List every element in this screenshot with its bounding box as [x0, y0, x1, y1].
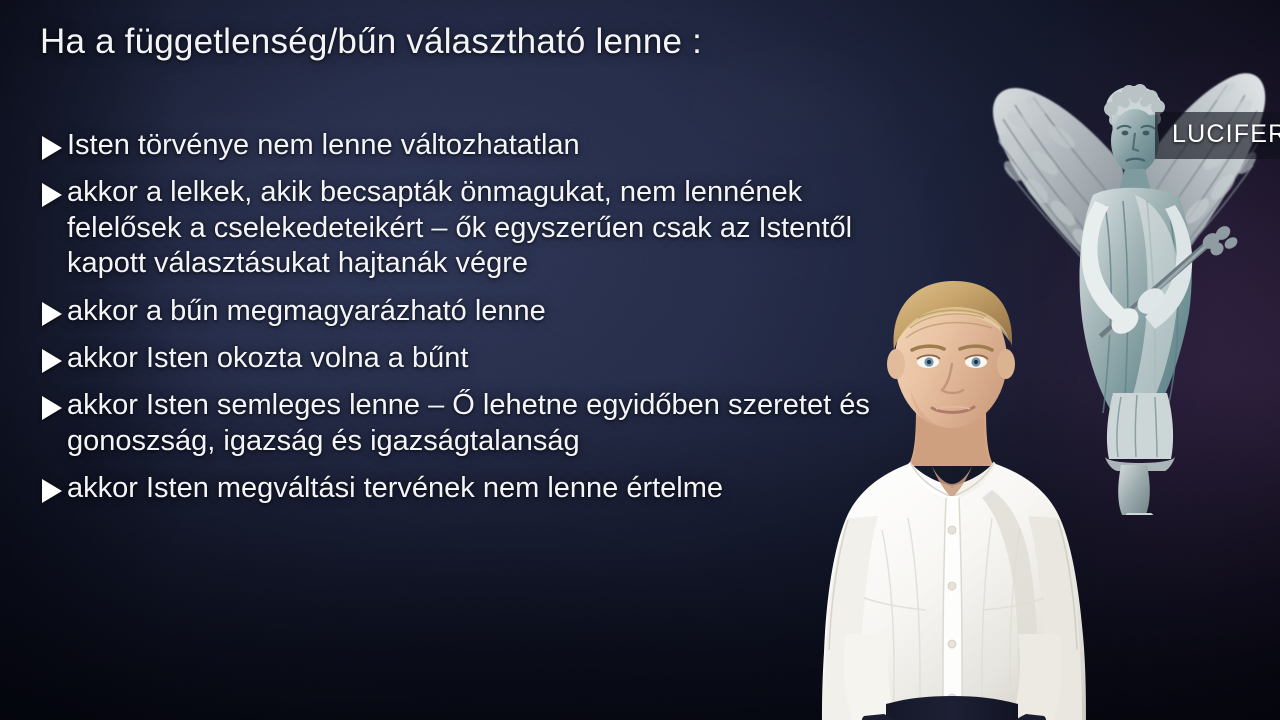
- list-item: Isten törvénye nem lenne változhatatlan: [40, 128, 920, 163]
- page-title: Ha a függetlenség/bűn választható lenne …: [40, 22, 702, 62]
- list-item-label: Isten törvénye nem lenne változhatatlan: [67, 128, 920, 163]
- triangle-right-icon: [42, 479, 62, 503]
- triangle-right-icon: [42, 136, 62, 160]
- list-item: akkor a lelkek, akik becsapták önmagukat…: [40, 175, 920, 281]
- triangle-right-icon: [42, 349, 62, 373]
- triangle-right-icon: [42, 183, 62, 207]
- lucifer-caption-label: LUCIFER: [1172, 120, 1280, 149]
- triangle-right-icon: [42, 302, 62, 326]
- triangle-right-icon: [42, 396, 62, 420]
- slide-canvas: LUCIFER: [0, 0, 1280, 720]
- list-item-label: akkor a lelkek, akik becsapták önmagukat…: [67, 175, 920, 281]
- presenter-photo: [786, 268, 1126, 720]
